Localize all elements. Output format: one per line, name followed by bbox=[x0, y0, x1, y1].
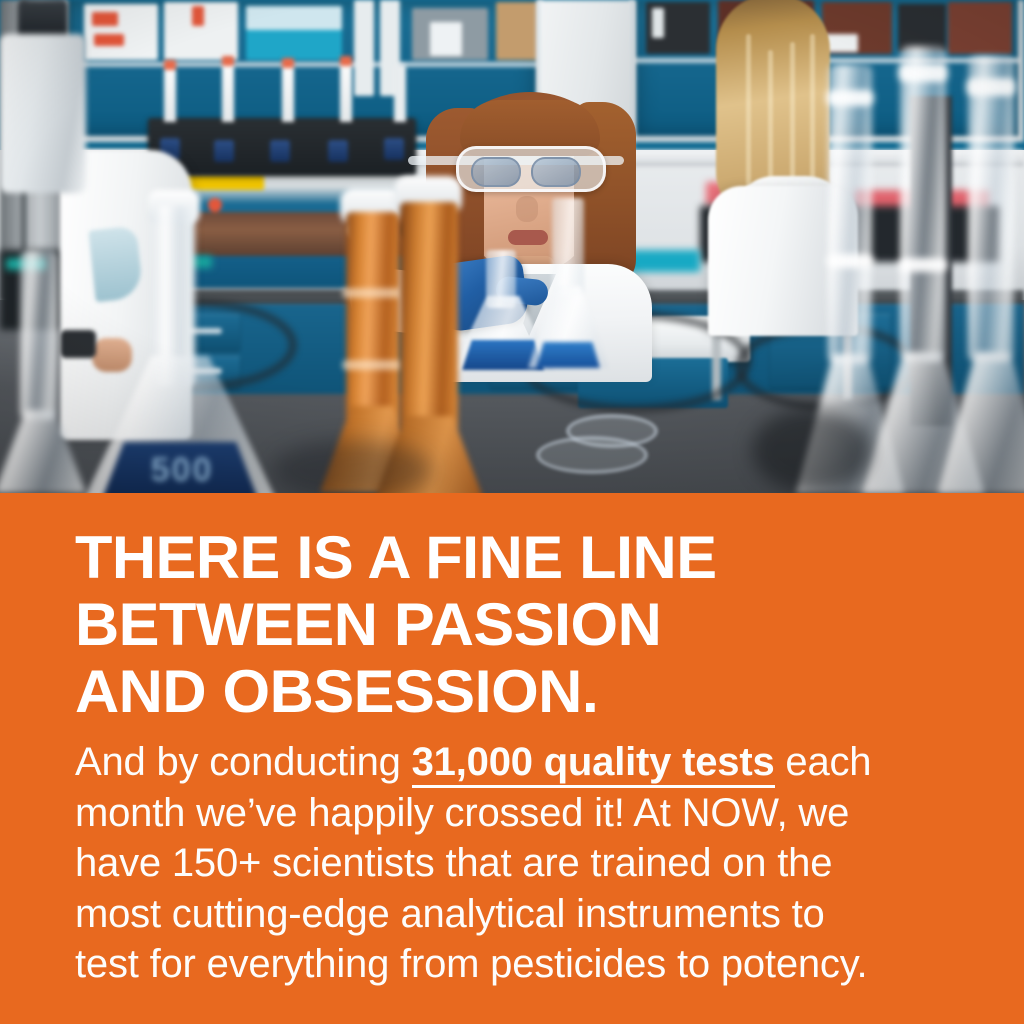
social-graphic-card: 500 bbox=[0, 0, 1024, 1024]
laboratory-photo: 500 bbox=[0, 0, 1024, 493]
body-line-5: test for everything from pesticides to p… bbox=[75, 939, 955, 990]
body-copy: And by conducting 31,000 quality tests e… bbox=[75, 737, 955, 990]
reagent-bottle bbox=[0, 0, 86, 193]
body-line-3: have 150+ scientists that are trained on… bbox=[75, 838, 955, 889]
flask-volume-label: 500 bbox=[128, 450, 236, 490]
quality-tests-emphasis: 31,000 quality tests bbox=[412, 740, 775, 788]
bokeh-shadow-right bbox=[752, 408, 872, 493]
body-line-1-post: each bbox=[775, 740, 872, 784]
headline-line-1: THERE IS A FINE LINE bbox=[75, 524, 993, 591]
glass-column-burette-3 bbox=[958, 56, 1024, 493]
headline-line-3: AND OBSESSION. bbox=[75, 658, 993, 725]
body-line-1-pre: And by conducting bbox=[75, 740, 412, 784]
volumetric-flask-500: 500 bbox=[84, 206, 276, 493]
headline-line-2: BETWEEN PASSION bbox=[75, 591, 993, 658]
glass-column-burette-2 bbox=[888, 46, 958, 493]
glass-column-left-edge bbox=[0, 250, 72, 493]
amber-flask-neck-2 bbox=[400, 202, 458, 452]
page-title: THERE IS A FINE LINE BETWEEN PASSION AND… bbox=[75, 524, 993, 725]
body-line-1: And by conducting 31,000 quality tests e… bbox=[75, 737, 955, 788]
reagent-bottle-body bbox=[0, 34, 86, 193]
body-line-4: most cutting-edge analytical instruments… bbox=[75, 889, 955, 940]
body-line-2: month we’ve happily crossed it! At NOW, … bbox=[75, 788, 955, 839]
bokeh-shadow-center bbox=[272, 440, 432, 493]
